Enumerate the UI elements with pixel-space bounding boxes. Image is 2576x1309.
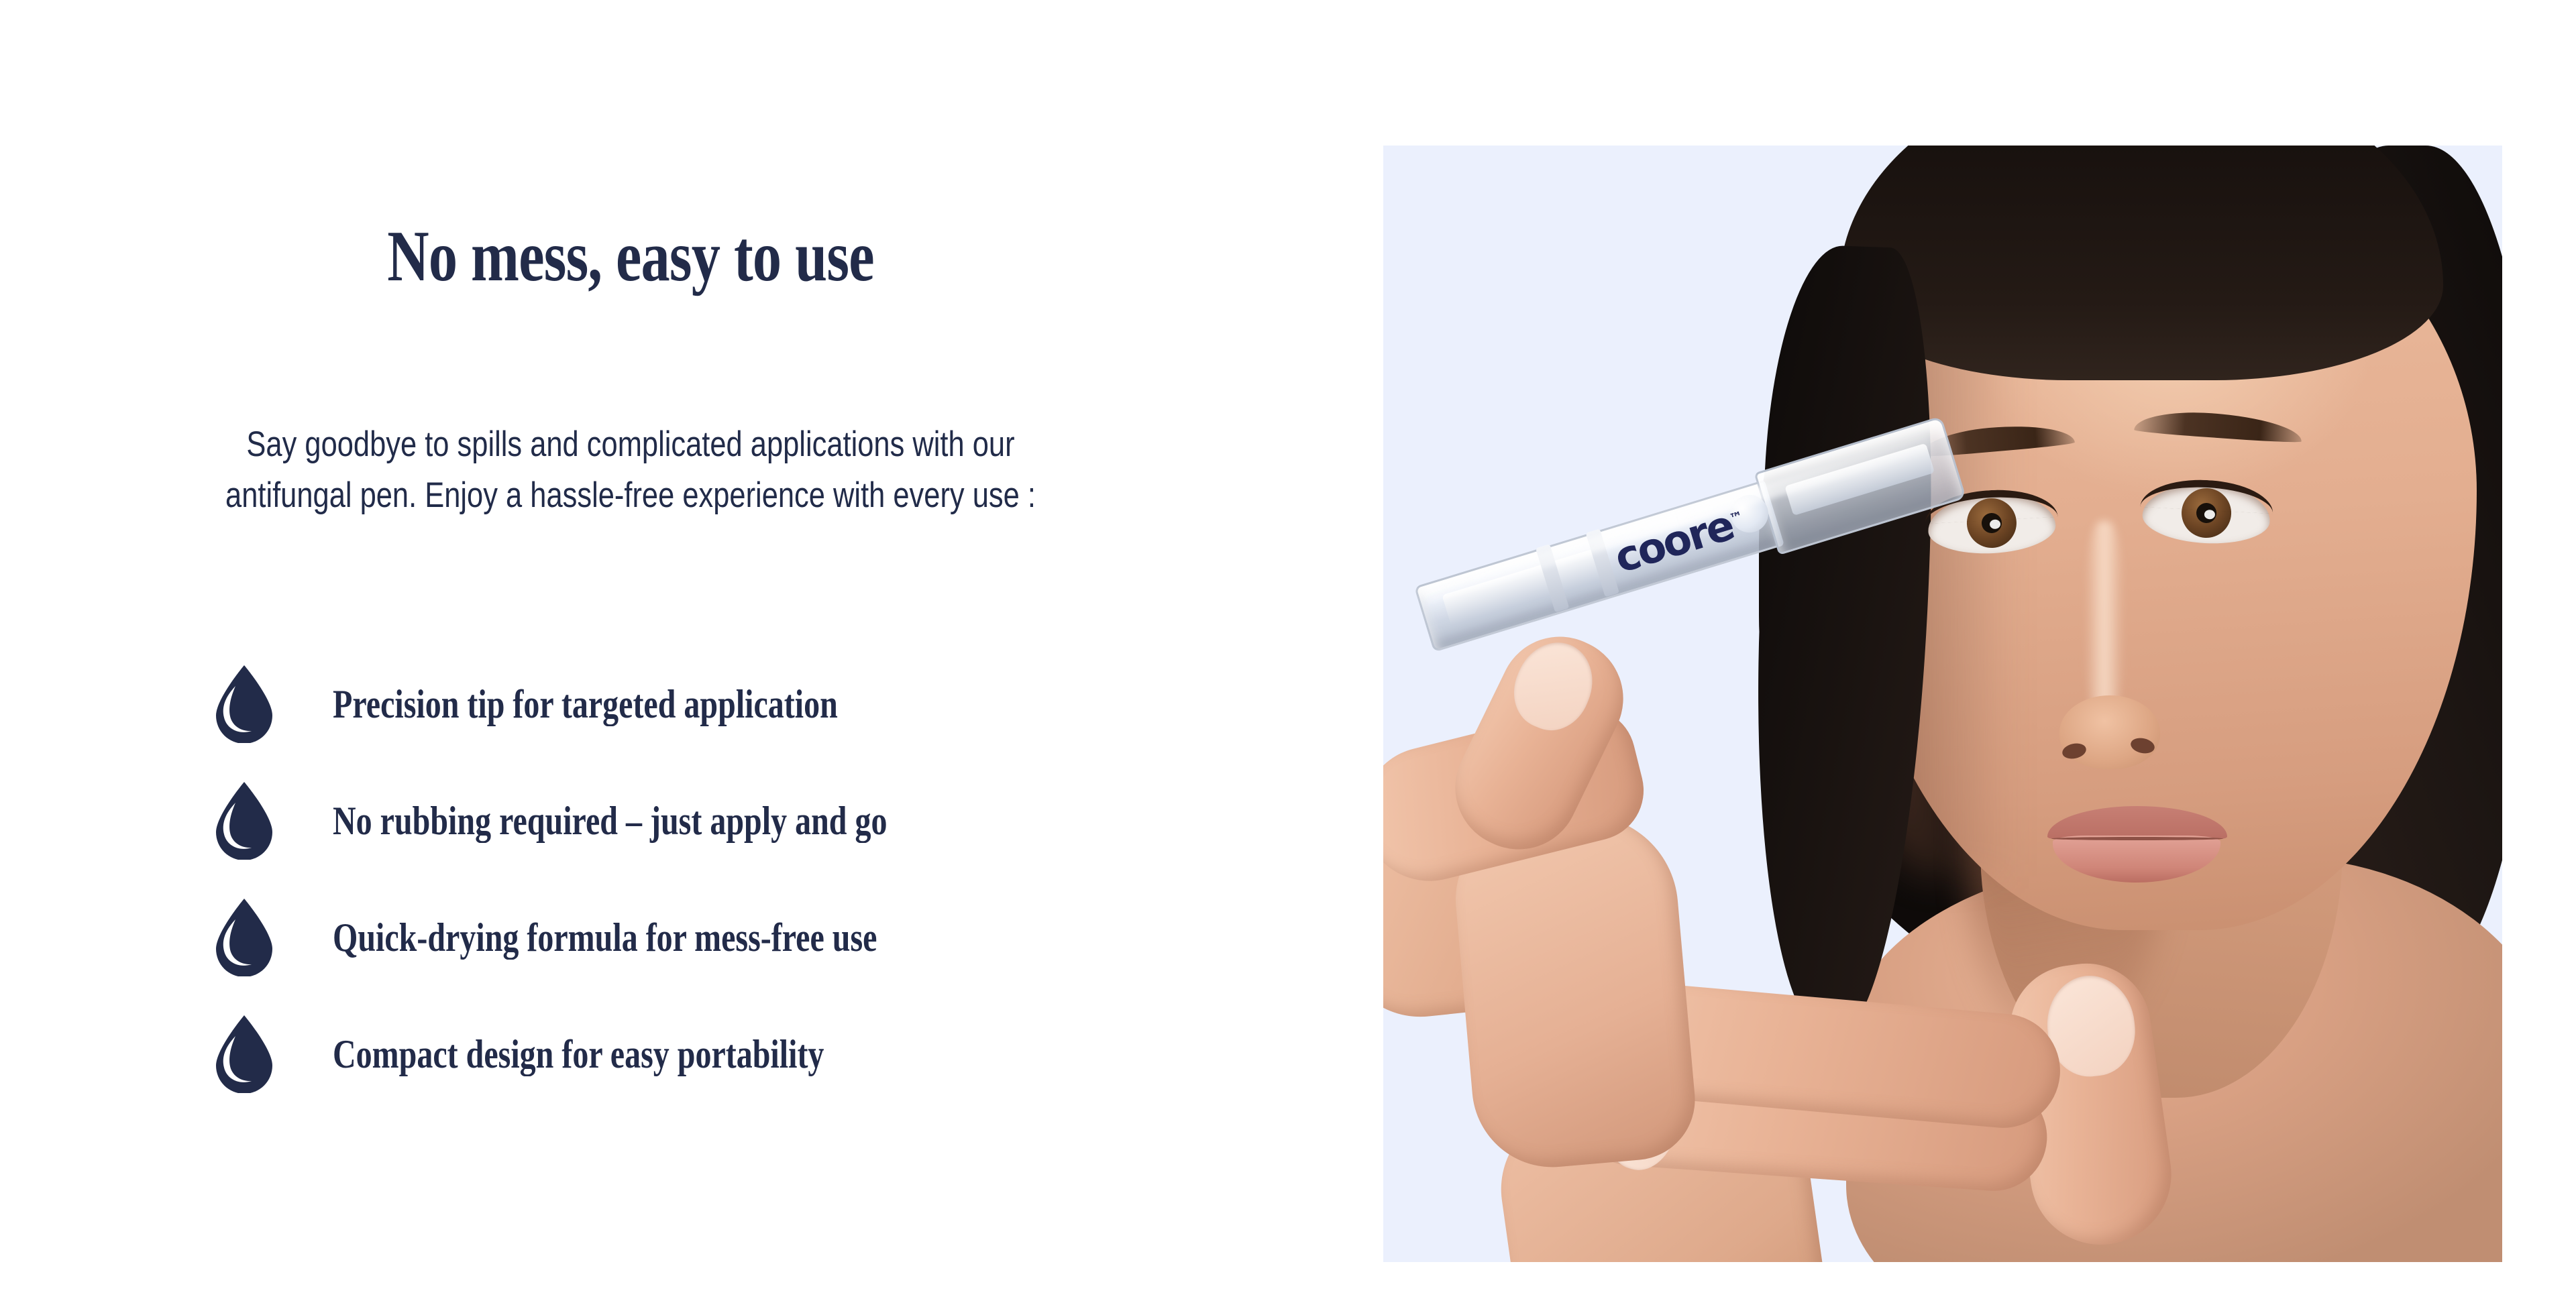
list-item: Compact design for easy portability (213, 1013, 1220, 1129)
benefit-label: Compact design for easy portability (333, 1034, 824, 1074)
water-drop-icon (213, 897, 275, 976)
water-drop-icon (213, 1014, 275, 1093)
product-photo: coore™ (1383, 146, 2502, 1262)
hair-top (1839, 146, 2443, 380)
intro-paragraph: Say goodbye to spills and complicated ap… (201, 419, 1059, 521)
lips (2047, 806, 2227, 885)
photo-stage: coore™ (1383, 146, 2502, 1262)
nose-bridge (2085, 521, 2124, 722)
eye-right (2141, 481, 2271, 547)
benefit-label: No rubbing required – just apply and go (333, 801, 887, 841)
list-item: No rubbing required – just apply and go (213, 779, 1220, 896)
benefit-label: Quick-drying formula for mess-free use (333, 917, 877, 958)
page-title: No mess, easy to use (212, 219, 1049, 294)
water-drop-icon (213, 664, 275, 743)
hand-upper (1383, 615, 1853, 1165)
water-drop-icon (213, 781, 275, 860)
benefit-list: Precision tip for targeted application N… (213, 663, 1220, 1129)
text-column: No mess, easy to use Say goodbye to spil… (0, 0, 1383, 1309)
list-item: Quick-drying formula for mess-free use (213, 896, 1220, 1013)
lip-line (2051, 837, 2223, 840)
list-item: Precision tip for targeted application (213, 663, 1220, 779)
lower-lip (2053, 836, 2220, 883)
eye-glint (1990, 519, 2001, 529)
eye-glint (2204, 510, 2216, 520)
benefit-label: Precision tip for targeted application (333, 684, 838, 724)
